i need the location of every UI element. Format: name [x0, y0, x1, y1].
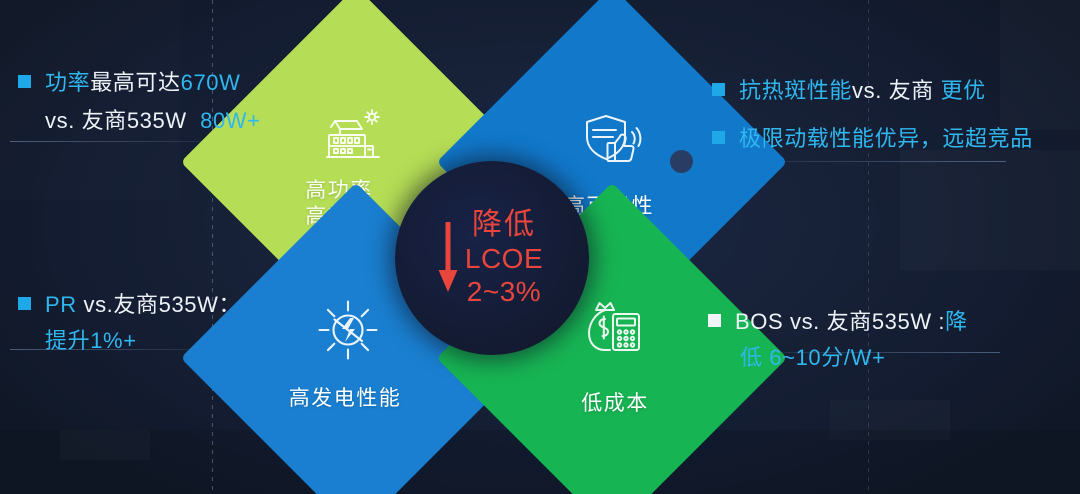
- bullet-square-icon: [708, 314, 721, 327]
- callout-seg-b: 535W: [127, 108, 187, 133]
- callout-line-1: BOS vs. 友商535W :降: [735, 305, 968, 339]
- callout-seg-c: 80W+: [200, 108, 260, 133]
- quadrant-label: 低成本: [581, 391, 649, 417]
- quadrant-label: 高发电性能: [289, 386, 402, 412]
- callout-line-2: 极限动载性能优异，远超竞品: [739, 122, 1033, 156]
- callout-seg-b: vs.友商: [83, 292, 158, 317]
- callout-seg-a: vs. 友商: [45, 108, 127, 133]
- bg-texture-block: [60, 430, 150, 460]
- solar-plant-icon: [316, 104, 390, 164]
- moneybag-calculator-icon: [579, 299, 653, 359]
- callout-bottom-right: BOS vs. 友商535W :降 低 6~10分/W+: [708, 305, 968, 375]
- callout-row: 抗热斑性能vs. 友商 更优: [712, 74, 1033, 108]
- sun-bolt-icon: [311, 300, 385, 360]
- callout-seg-a: PR: [45, 292, 77, 317]
- infographic-canvas: 高功率 高效率 高可靠性: [0, 0, 1080, 494]
- center-text-group: 降低 LCOE 2~3%: [465, 208, 543, 308]
- callout-seg-c: 更优: [941, 78, 986, 103]
- bg-texture-block: [900, 150, 1080, 270]
- callout-bottom-left: PR vs.友商535W： 提升1%+: [18, 288, 241, 358]
- callout-seg-b: vs. 友商: [852, 78, 934, 103]
- callout-seg-c: 535W：: [159, 292, 241, 317]
- bullet-square-icon: [712, 131, 725, 144]
- callout-line-2: 提升1%+: [45, 324, 241, 358]
- callout-top-right: 抗热斑性能vs. 友商 更优 极限动载性能优异，远超竞品: [712, 74, 1033, 156]
- center-line-1: 降低: [472, 208, 536, 242]
- quadrant-label-line1: 高发电性能: [289, 386, 402, 412]
- callout-line-2: vs. 友商535W 80W+: [45, 104, 261, 138]
- bullet-square-icon: [18, 297, 31, 310]
- center-line-2: LCOE: [465, 242, 543, 275]
- callout-seg-c: 降: [945, 309, 968, 334]
- callout-seg-b: 最高可达: [90, 70, 180, 95]
- callout-top-left: 功率最高可达670W vs. 友商535W 80W+: [18, 66, 261, 138]
- callout-line-1: 功率最高可达670W: [45, 66, 240, 100]
- bullet-square-icon: [712, 83, 725, 96]
- callout-seg-a: BOS vs. 友商: [735, 309, 872, 334]
- callout-row: 功率最高可达670W: [18, 66, 261, 100]
- callout-row: PR vs.友商535W：: [18, 288, 241, 322]
- callout-seg-a: 抗热斑性能: [739, 78, 852, 103]
- shield-thumbsup-icon: [575, 112, 649, 172]
- callout-line-1: 抗热斑性能vs. 友商 更优: [739, 74, 986, 108]
- center-circle-lcoe: 降低 LCOE 2~3%: [395, 161, 589, 355]
- bg-texture-block: [830, 400, 950, 440]
- callout-row: 极限动载性能优异，远超竞品: [712, 122, 1033, 156]
- callout-line-2: 低 6~10分/W+: [740, 341, 968, 375]
- connector-knob: [670, 150, 693, 173]
- callout-seg-a: 功率: [45, 70, 90, 95]
- callout-line-1: PR vs.友商535W：: [45, 288, 241, 322]
- quadrant-label-line1: 低成本: [581, 391, 649, 417]
- callout-seg-c: 670W: [181, 70, 241, 95]
- callout-row: BOS vs. 友商535W :降: [708, 305, 968, 339]
- center-line-3: 2~3%: [467, 275, 541, 308]
- callout-seg-b: 535W :: [872, 309, 945, 334]
- down-arrow-icon: [437, 222, 459, 294]
- bullet-square-icon: [18, 75, 31, 88]
